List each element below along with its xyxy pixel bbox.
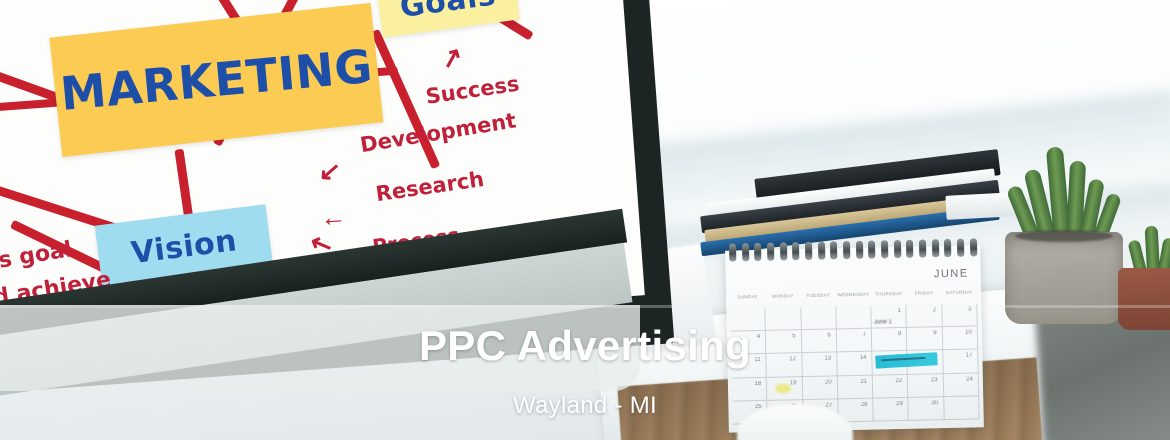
arrow-up-icon: ↗ xyxy=(437,40,467,76)
calendar-day-number: 22 xyxy=(896,378,903,384)
handwritten-success: Success xyxy=(424,72,521,109)
calendar-day-number: 20 xyxy=(825,379,832,385)
calendar-month-label: JUNE xyxy=(934,268,969,281)
calendar-day-number: 21 xyxy=(860,378,867,384)
calendar-day-header: THURSDAY xyxy=(871,291,907,305)
calendar-day-number: 2 xyxy=(933,307,936,313)
sticky-note-goals: Goals xyxy=(376,0,520,38)
calendar-day-header: FRIDAY xyxy=(906,290,942,304)
calendar-day-number: 19 xyxy=(790,380,797,386)
calendar-day-header: SATURDAY xyxy=(942,289,978,303)
sticky-note-marketing: MARKETING xyxy=(49,3,383,157)
plant-pot-grey xyxy=(1005,232,1123,324)
calendar-day-number: 18 xyxy=(754,381,761,387)
sticky-note-marketing-label: MARKETING xyxy=(58,39,375,121)
calendar-day-number: 23 xyxy=(931,377,938,383)
calendar-day-number: 24 xyxy=(966,376,973,382)
sticky-note-goals-label: Goals xyxy=(398,0,498,25)
cactus-plant xyxy=(1010,128,1130,243)
ppc-advertising-banner: MARKETING Goals Vision Success Developme… xyxy=(0,0,1170,440)
sticky-note-vision-label: Vision xyxy=(129,223,239,271)
page-title: PPC Advertising xyxy=(0,322,1170,370)
notebook xyxy=(945,192,1016,220)
handwritten-research: Research xyxy=(374,167,485,206)
arrow-left-icon: ↙ xyxy=(318,155,342,187)
plant-pot-terracotta xyxy=(1118,268,1170,330)
page-subtitle: Wayland - MI xyxy=(0,392,1170,420)
calendar-day-number: 1 xyxy=(897,308,900,314)
calendar-day-header: WEDNESDAY xyxy=(836,292,872,306)
